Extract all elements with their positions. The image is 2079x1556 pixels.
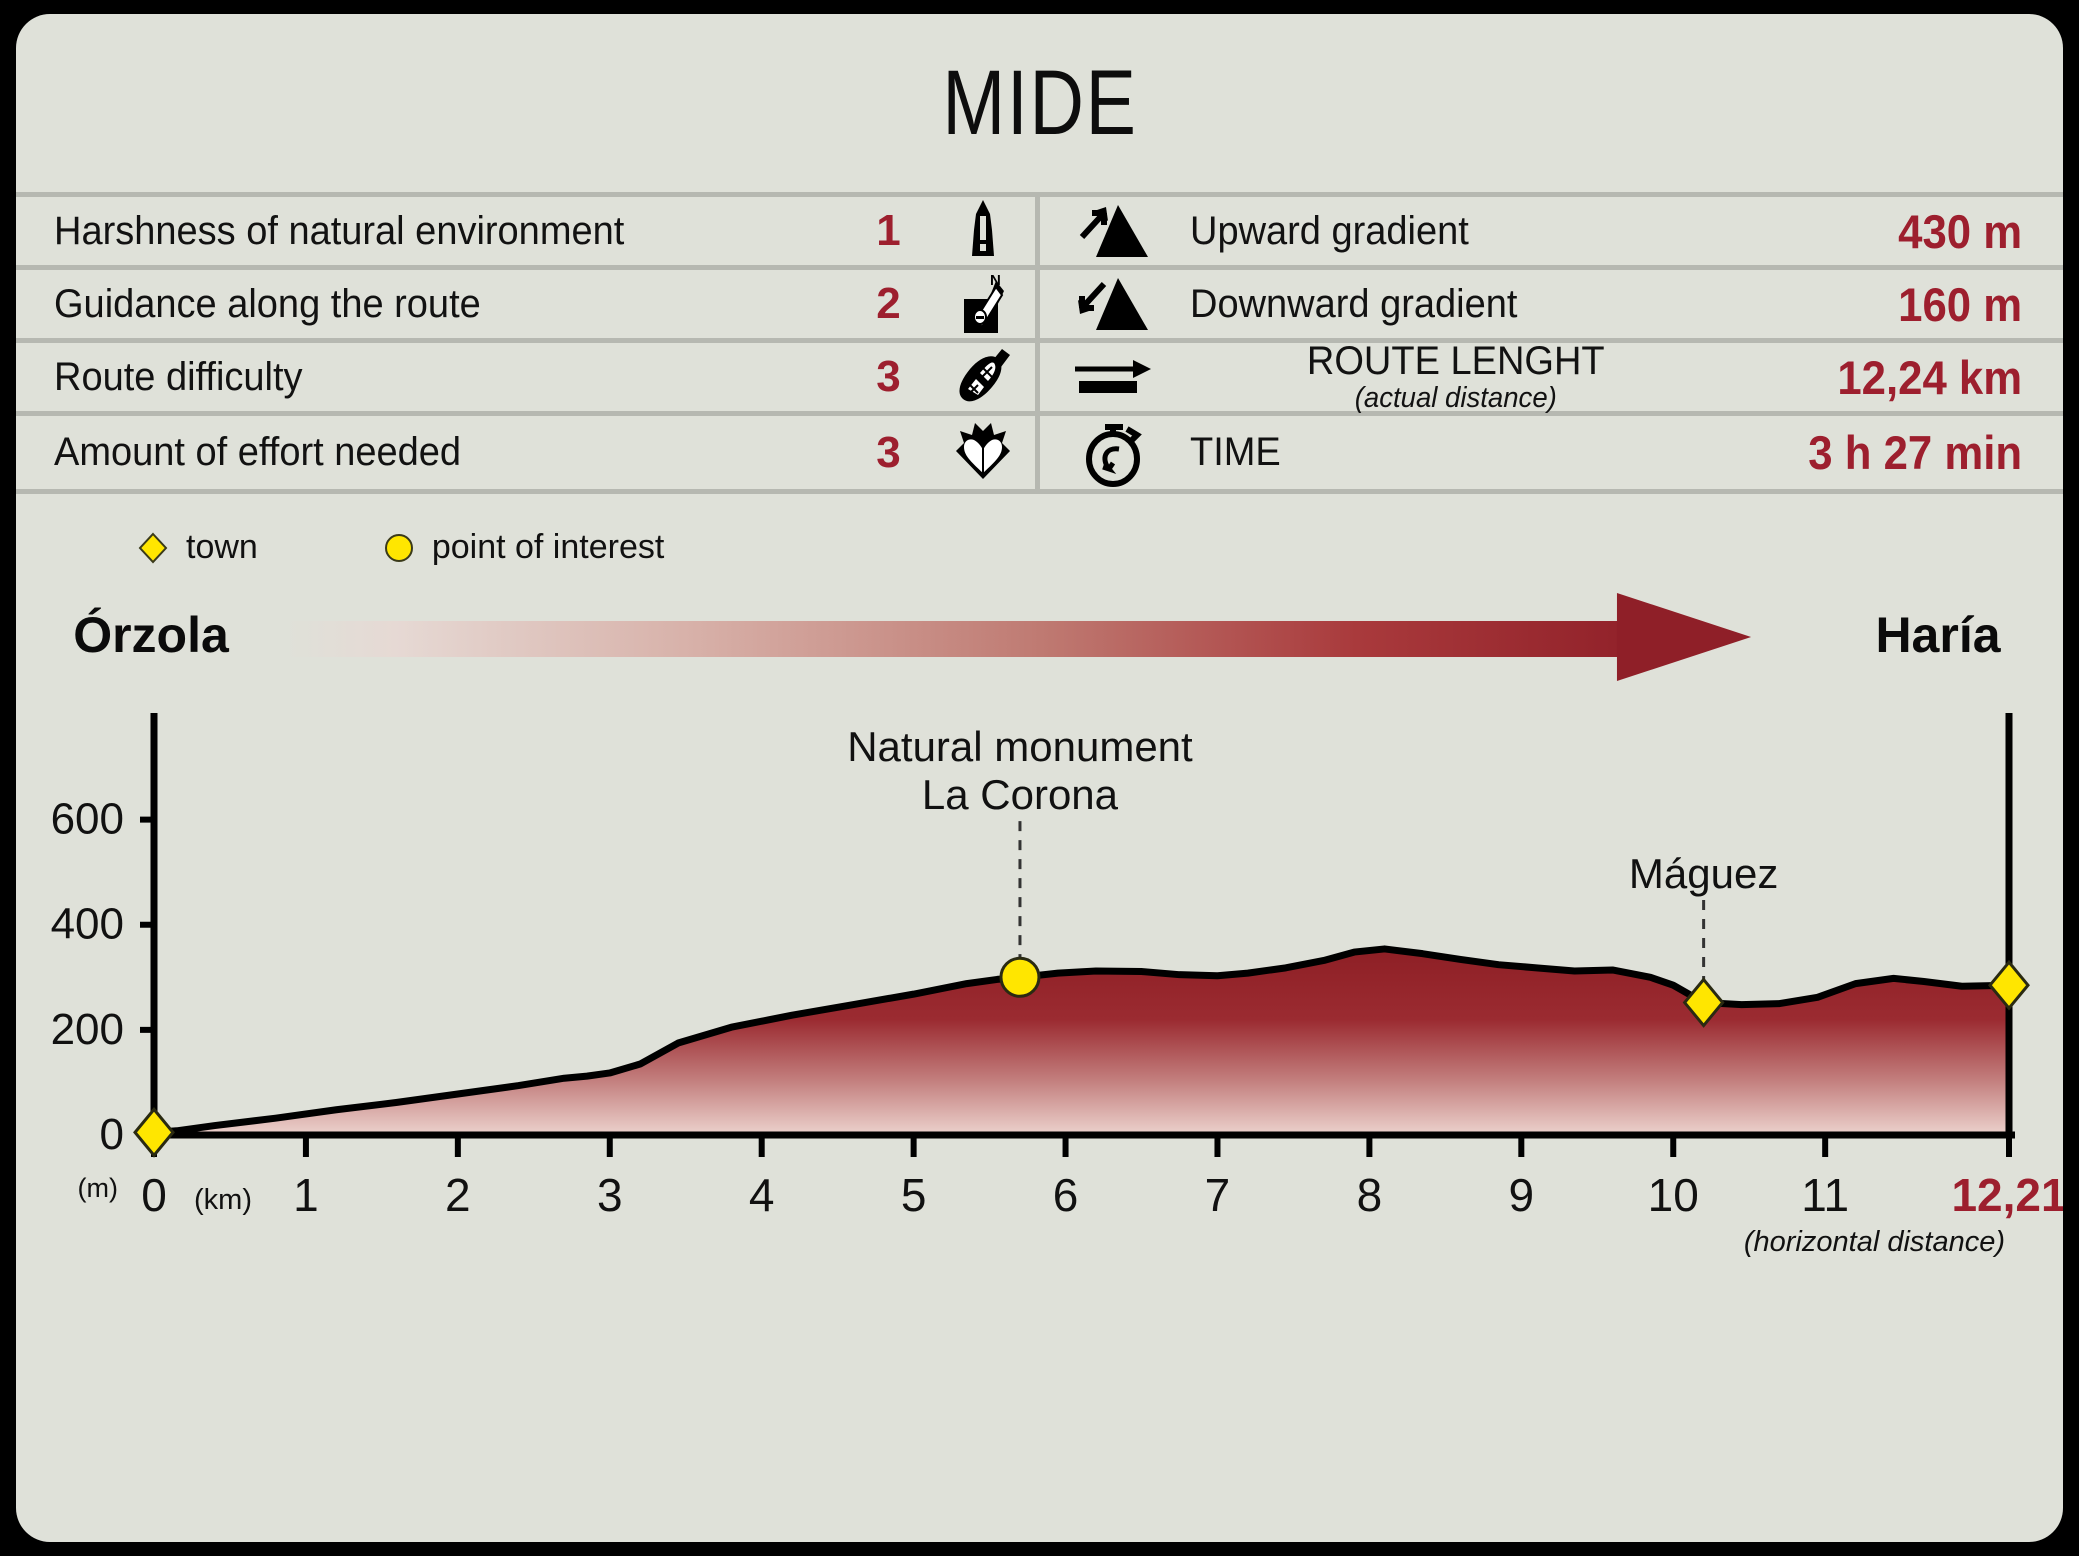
x-tick-label: 10 bbox=[1648, 1169, 1699, 1221]
marker-annotation: La Corona bbox=[922, 771, 1119, 818]
y-axis-unit: (m) bbox=[78, 1173, 118, 1203]
x-tick-label: 9 bbox=[1509, 1169, 1535, 1221]
criteria-score: 3 bbox=[847, 352, 931, 402]
marker-annotation: Natural monument bbox=[847, 723, 1193, 770]
x-axis-label: (horizontal distance) bbox=[1744, 1226, 2005, 1258]
mide-table: Harshness of natural environment 1 Guida… bbox=[16, 197, 2063, 489]
chart-legend: town point of interest bbox=[16, 494, 2063, 567]
elevation-area bbox=[154, 949, 2009, 1135]
criteria-row-effort: Amount of effort needed 3 bbox=[16, 416, 1035, 489]
measurement-label: ROUTE LENGHT bbox=[1306, 341, 1604, 381]
criteria-label: Amount of effort needed bbox=[16, 430, 805, 475]
measurement-row-downward: Downward gradient 160 m bbox=[1040, 270, 2064, 343]
criteria-score: 2 bbox=[847, 279, 931, 329]
x-tick-label: 12,21 bbox=[1951, 1169, 2063, 1221]
criteria-row-difficulty: Route difficulty 3 bbox=[16, 343, 1035, 416]
warning-triangle-icon bbox=[931, 200, 1035, 262]
y-tick-label: 0 bbox=[100, 1110, 124, 1159]
x-tick-label: 1 bbox=[293, 1169, 319, 1221]
elevation-profile-svg: 0200400600(m)0123456789101112,21(km)(hor… bbox=[16, 705, 2063, 1265]
criteria-score: 3 bbox=[847, 428, 931, 478]
panel-header: MIDE bbox=[16, 14, 2063, 192]
x-tick-label: 11 bbox=[1801, 1169, 1849, 1221]
page-title: MIDE bbox=[942, 51, 1137, 156]
measurement-label: Downward gradient bbox=[1190, 282, 1722, 327]
x-tick-label: 3 bbox=[597, 1169, 623, 1221]
measurement-value: 12,24 km bbox=[1771, 350, 2063, 405]
x-tick-label: 4 bbox=[749, 1169, 775, 1221]
criteria-label: Route difficulty bbox=[16, 355, 805, 400]
criteria-score: 1 bbox=[847, 206, 931, 256]
legend-item-town: town bbox=[136, 528, 258, 567]
route-end-label: Haría bbox=[1813, 606, 2063, 664]
measurement-row-upward: Upward gradient 430 m bbox=[1040, 197, 2064, 270]
criteria-row-harshness: Harshness of natural environment 1 bbox=[16, 197, 1035, 270]
x-tick-label: 6 bbox=[1053, 1169, 1079, 1221]
mountain-down-icon bbox=[1040, 274, 1190, 334]
x-tick-label: 0 bbox=[141, 1169, 167, 1221]
boot-icon bbox=[931, 345, 1035, 409]
criteria-column: Harshness of natural environment 1 Guida… bbox=[16, 197, 1040, 489]
route-start-label: Órzola bbox=[16, 606, 286, 664]
legend-label: point of interest bbox=[432, 528, 664, 567]
arrow-distance-icon bbox=[1040, 351, 1190, 403]
measurement-label-group: ROUTE LENGHT (actual distance) bbox=[1190, 341, 1722, 413]
measurement-label: Upward gradient bbox=[1190, 209, 1722, 254]
compass-icon: N bbox=[931, 271, 1035, 337]
town-marker-icon bbox=[136, 531, 170, 565]
measurement-value: 3 h 27 min bbox=[1771, 425, 2063, 480]
legend-item-poi: point of interest bbox=[382, 528, 664, 567]
x-axis-unit: (km) bbox=[194, 1184, 252, 1216]
town-marker bbox=[135, 1109, 173, 1155]
measurement-row-time: TIME 3 h 27 min bbox=[1040, 416, 2064, 489]
heart-icon bbox=[931, 421, 1035, 485]
point-of-interest-marker bbox=[1001, 958, 1039, 996]
x-tick-label: 7 bbox=[1205, 1169, 1231, 1221]
y-tick-label: 600 bbox=[51, 795, 124, 844]
criteria-label: Guidance along the route bbox=[16, 282, 805, 327]
measurements-column: Upward gradient 430 m Downward gradient … bbox=[1040, 197, 2064, 489]
x-tick-label: 5 bbox=[901, 1169, 927, 1221]
point-of-interest-marker-icon bbox=[382, 531, 416, 565]
y-tick-label: 400 bbox=[51, 900, 124, 949]
legend-label: town bbox=[186, 528, 258, 567]
measurement-label: TIME bbox=[1190, 430, 1722, 475]
measurement-sublabel: (actual distance) bbox=[1354, 384, 1556, 413]
mide-panel: MIDE Harshness of natural environment 1 … bbox=[0, 0, 2079, 1556]
marker-annotation: Máguez bbox=[1629, 850, 1778, 897]
direction-arrow-icon bbox=[286, 585, 1813, 685]
criteria-label: Harshness of natural environment bbox=[16, 209, 805, 254]
x-tick-label: 2 bbox=[445, 1169, 471, 1221]
criteria-row-guidance: Guidance along the route 2 N bbox=[16, 270, 1035, 343]
x-tick-label: 8 bbox=[1357, 1169, 1383, 1221]
elevation-profile-chart: 0200400600(m)0123456789101112,21(km)(hor… bbox=[16, 705, 2063, 1265]
measurement-value: 160 m bbox=[1771, 277, 2063, 332]
y-tick-label: 200 bbox=[51, 1005, 124, 1054]
measurement-value: 430 m bbox=[1771, 204, 2063, 259]
route-direction-bar: Órzola Haría bbox=[16, 567, 2063, 687]
mountain-up-icon bbox=[1040, 201, 1190, 261]
mide-sheet: MIDE Harshness of natural environment 1 … bbox=[16, 14, 2063, 1542]
measurement-row-length: ROUTE LENGHT (actual distance) 12,24 km bbox=[1040, 343, 2064, 416]
stopwatch-icon bbox=[1040, 419, 1190, 487]
